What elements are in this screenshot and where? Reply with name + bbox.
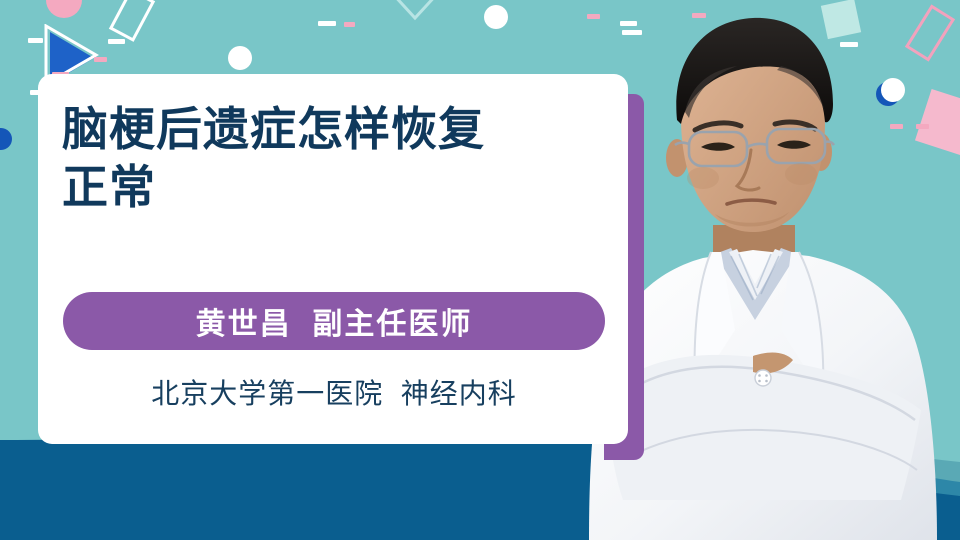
white-circle-deco-2 — [484, 5, 508, 29]
pink-dash-deco-3 — [344, 22, 355, 27]
doctor-name-badge: 黄世昌 副主任医师 — [63, 292, 605, 350]
title-card-canvas: 脑梗后遗症怎样恢复 正常 黄世昌 副主任医师 北京大学第一医院 神经内科 — [0, 0, 960, 540]
white-circle-deco — [228, 46, 252, 70]
doctor-affiliation: 北京大学第一医院 神经内科 — [63, 372, 605, 412]
mint-chevron-deco — [378, 0, 452, 29]
blue-circle-edge-deco — [0, 128, 12, 150]
pink-circle-deco — [46, 0, 82, 18]
pink-dash-deco-1 — [94, 57, 107, 62]
white-dash-deco-1 — [28, 38, 43, 43]
white-rect-outline-deco — [109, 0, 155, 42]
pink-circle-behind-deco — [225, 44, 249, 68]
white-dash-deco-4 — [318, 21, 336, 26]
page-title: 脑梗后遗症怎样恢复 正常 — [62, 100, 622, 216]
doctor-name-badge-label: 黄世昌 副主任医师 — [196, 299, 473, 343]
white-dash-deco-2 — [108, 39, 125, 44]
